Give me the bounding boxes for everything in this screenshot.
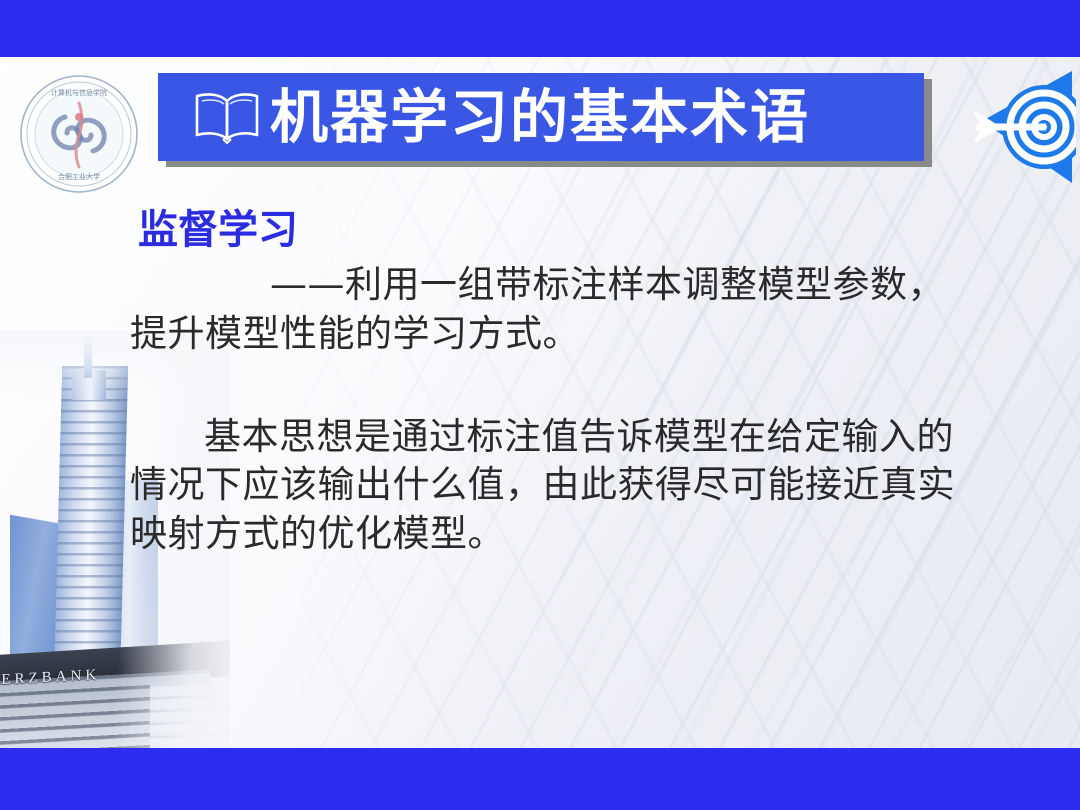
target-arrow-icon (968, 65, 1076, 189)
definition-paragraph-text: ——利用一组带标注样本调整模型参数，提升模型性能的学习方式。 (130, 263, 945, 355)
slide-content: 监督学习 ——利用一组带标注样本调整模型参数，提升模型性能的学习方式。 基本思想… (130, 205, 960, 559)
section-subheading: 监督学习 (138, 205, 960, 255)
definition-paragraph: ——利用一组带标注样本调整模型参数，提升模型性能的学习方式。 (130, 261, 960, 359)
svg-text:合肥工业大学: 合肥工业大学 (58, 172, 100, 181)
explanation-paragraph-text: 基本思想是通过标注值告诉模型在给定输入的情况下应该输出什么值，由此获得尽可能接近… (130, 415, 955, 556)
slide-header: 计算机与信息学院 合肥工业大学 机器学习的基本术语 (0, 57, 1080, 185)
svg-text:计算机与信息学院: 计算机与信息学院 (51, 88, 107, 97)
page-title: 机器学习的基本术语 (270, 88, 810, 146)
bottom-blue-band (0, 748, 1080, 810)
open-book-icon (190, 89, 264, 145)
explanation-paragraph: 基本思想是通过标注值告诉模型在给定输入的情况下应该输出什么值，由此获得尽可能接近… (130, 413, 960, 559)
top-blue-band (0, 0, 1080, 57)
university-logo: 计算机与信息学院 合肥工业大学 (17, 73, 141, 195)
title-plate: 机器学习的基本术语 (158, 73, 924, 161)
presentation-slide: MERZBANK 计算机与信息学院 合肥工业大学 (0, 0, 1080, 810)
